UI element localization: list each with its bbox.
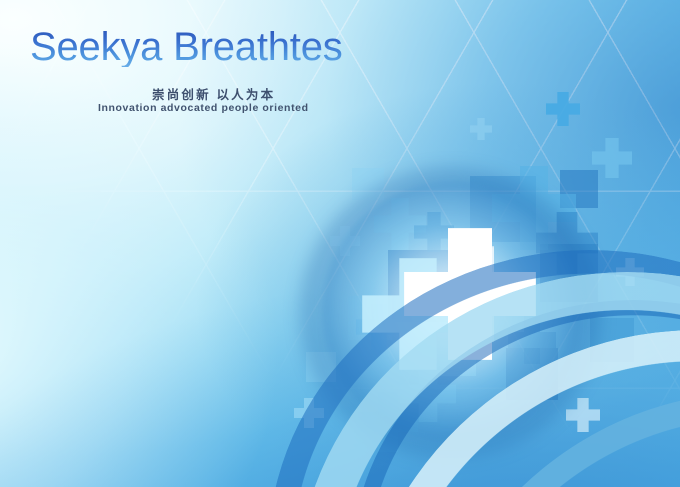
poster-canvas: Seekya Breathtes 崇尚创新 以人为本 Innovation ad… [0, 0, 680, 487]
cross-b-cross-icon [592, 138, 632, 178]
slogan-chinese: 崇尚创新 以人为本 [152, 84, 275, 103]
slogan-english: Innovation advocated people oriented [98, 102, 309, 114]
cross-n-cross-icon [470, 118, 492, 140]
cross-a-cross-icon [546, 92, 580, 126]
brand-title: Seekya Breathtes [30, 27, 343, 67]
